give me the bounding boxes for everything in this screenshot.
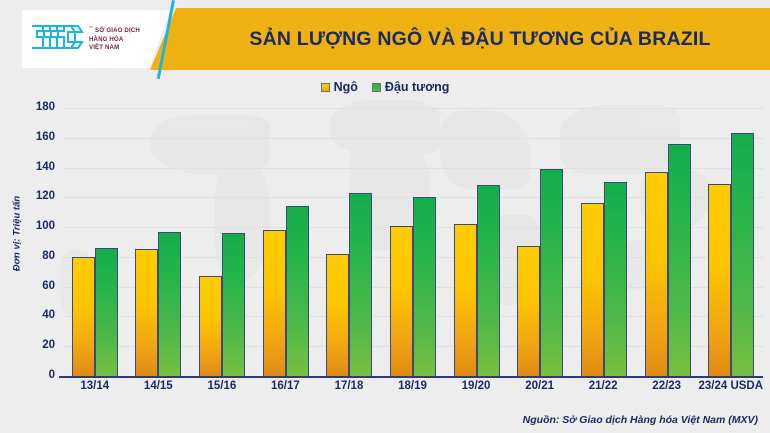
corn-bar[interactable] xyxy=(581,203,604,376)
x-axis-tick-label: 14/15 xyxy=(127,380,191,392)
y-axis-tick-label: 0 xyxy=(15,369,55,381)
x-axis-tick-label: 20/21 xyxy=(508,380,572,392)
soybean-bar[interactable] xyxy=(349,193,372,376)
x-axis-tick-label: 15/16 xyxy=(190,380,254,392)
x-axis-tick-label: 23/24 USDA xyxy=(698,380,763,392)
trademark-symbol: ™ xyxy=(89,25,93,30)
soybean-bar[interactable] xyxy=(286,206,309,376)
bar-group xyxy=(190,108,254,376)
bar-group xyxy=(445,108,509,376)
bar-group xyxy=(127,108,191,376)
soybean-bar[interactable] xyxy=(222,233,245,376)
bar-group xyxy=(318,108,382,376)
x-axis-labels: 13/1414/1515/1616/1717/1818/1919/2020/21… xyxy=(63,380,763,392)
logo-line-3: VIỆT NAM xyxy=(89,44,119,51)
soybean-bar[interactable] xyxy=(731,133,754,376)
corn-bar[interactable] xyxy=(517,246,540,376)
legend-item-soybean[interactable]: Đậu tương xyxy=(372,80,449,94)
legend-label-corn: Ngô xyxy=(334,80,358,94)
soybean-swatch-icon xyxy=(372,83,381,92)
y-axis-tick-label: 160 xyxy=(15,131,55,143)
x-axis-tick-label: 21/22 xyxy=(571,380,635,392)
logo-line-2: HÀNG HÓA xyxy=(89,36,123,43)
corn-bar[interactable] xyxy=(454,224,477,376)
y-axis-tick-label: 20 xyxy=(15,339,55,351)
corn-bar[interactable] xyxy=(645,172,668,376)
soybean-bar[interactable] xyxy=(95,248,118,376)
soybean-bar[interactable] xyxy=(540,169,563,376)
bar-group xyxy=(63,108,127,376)
soybean-bar[interactable] xyxy=(413,197,436,376)
y-axis-tick-label: 120 xyxy=(15,190,55,202)
y-axis-tick-label: 80 xyxy=(15,250,55,262)
source-note: Nguồn: Sở Giao dịch Hàng hóa Việt Nam (M… xyxy=(523,414,758,426)
x-axis-tick-label: 16/17 xyxy=(254,380,318,392)
mxv-geometric-logo-icon xyxy=(29,20,87,59)
bar-group xyxy=(381,108,445,376)
bar-groups xyxy=(63,108,763,376)
bar-group xyxy=(636,108,700,376)
y-axis-tick-label: 140 xyxy=(15,161,55,173)
legend-label-soybean: Đậu tương xyxy=(385,80,449,94)
corn-bar[interactable] xyxy=(708,184,731,376)
y-axis-tick-label: 180 xyxy=(15,101,55,113)
x-axis-tick-label: 13/14 xyxy=(63,380,127,392)
soybean-bar[interactable] xyxy=(158,232,181,376)
corn-swatch-icon xyxy=(321,83,330,92)
chart-page: SẢN LƯỢNG NGÔ VÀ ĐẬU TƯƠNG CỦA BRAZIL ™ xyxy=(0,0,770,433)
x-axis-tick-label: 22/23 xyxy=(635,380,699,392)
y-axis-tick-label: 60 xyxy=(15,280,55,292)
y-axis-tick-label: 40 xyxy=(15,309,55,321)
soybean-bar[interactable] xyxy=(477,185,500,376)
corn-bar[interactable] xyxy=(326,254,349,376)
corn-bar[interactable] xyxy=(263,230,286,376)
brand-logo-text: ™ SỞ GIAO DỊCH HÀNG HÓA VIỆT NAM xyxy=(89,25,140,53)
chart-legend: Ngô Đậu tương xyxy=(0,80,770,94)
brand-logo-card[interactable]: ™ SỞ GIAO DỊCH HÀNG HÓA VIỆT NAM xyxy=(22,10,170,68)
soybean-bar[interactable] xyxy=(668,144,691,376)
bar-group xyxy=(572,108,636,376)
corn-bar[interactable] xyxy=(135,249,158,376)
bar-group xyxy=(508,108,572,376)
corn-bar[interactable] xyxy=(390,226,413,376)
bar-group xyxy=(699,108,763,376)
corn-bar[interactable] xyxy=(72,257,95,376)
soybean-bar[interactable] xyxy=(604,182,627,376)
chart-header: SẢN LƯỢNG NGÔ VÀ ĐẬU TƯƠNG CỦA BRAZIL ™ xyxy=(0,8,770,70)
corn-bar[interactable] xyxy=(199,276,222,376)
legend-item-corn[interactable]: Ngô xyxy=(321,80,358,94)
logo-line-1: SỞ GIAO DỊCH xyxy=(95,27,140,34)
y-axis-tick-label: 100 xyxy=(15,220,55,232)
x-axis-tick-label: 18/19 xyxy=(381,380,445,392)
page-title: SẢN LƯỢNG NGÔ VÀ ĐẬU TƯƠNG CỦA BRAZIL xyxy=(200,8,760,70)
bar-group xyxy=(254,108,318,376)
plot-area: 180160140120100806040200 xyxy=(63,108,763,376)
x-axis-line xyxy=(59,376,763,378)
x-axis-tick-label: 19/20 xyxy=(444,380,508,392)
x-axis-tick-label: 17/18 xyxy=(317,380,381,392)
